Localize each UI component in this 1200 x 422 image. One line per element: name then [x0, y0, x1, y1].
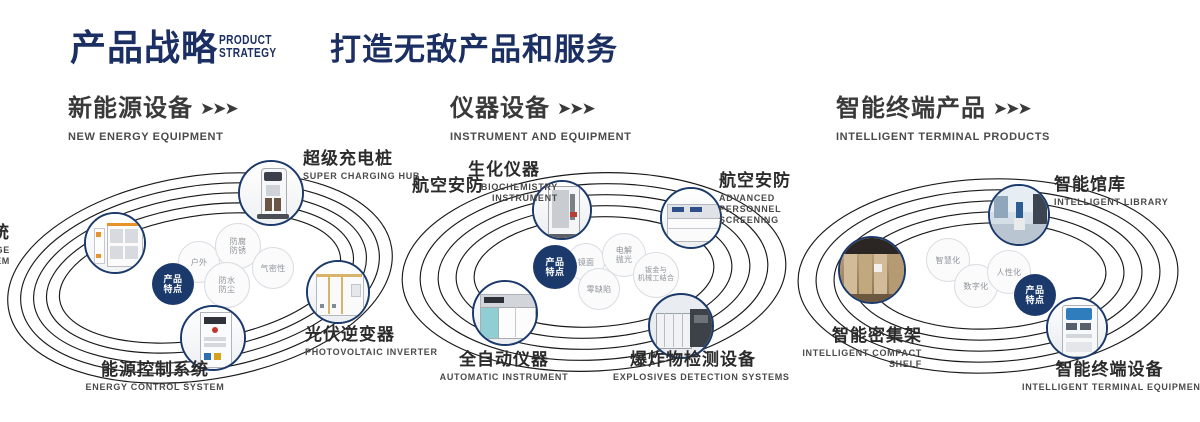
charging-pile-icon	[240, 162, 302, 224]
core-label-3b: 特点	[1025, 295, 1044, 305]
chevron-right-icon-2: ➤➤➤	[557, 99, 594, 118]
page-title-cn: 产品战略	[70, 28, 218, 68]
section-heading-cn-2: 仪器设备➤➤➤	[450, 96, 631, 124]
core-label-1a: 产品	[163, 274, 182, 284]
feature-label-1-2b: 防锈	[230, 246, 247, 255]
section-heading-instrument: 仪器设备➤➤➤ INSTRUMENT AND EQUIPMENT	[450, 96, 631, 143]
label-control-system: 能源控制系统 ENERGY CONTROL SYSTEM	[85, 360, 225, 393]
core-label-1b: 特点	[163, 284, 182, 294]
label-control-system-cn: 能源控制系统	[85, 360, 225, 379]
node-smart-library[interactable]	[988, 184, 1050, 246]
node-compact-shelving[interactable]	[838, 236, 906, 304]
section-heading-cn-3: 智能终端产品➤➤➤	[836, 96, 1050, 124]
cluster-instrument: 镜面 电解 抛光 钣金与 机械工结合 零缺陷 产品 特点	[398, 150, 798, 400]
feature-label-1-1: 户外	[191, 258, 208, 267]
compact-shelving-icon	[840, 238, 904, 302]
page-title-en-line2: STRATEGY	[219, 46, 277, 59]
feature-label-2-1: 镜面	[578, 258, 595, 267]
feature-label-1-2a: 防腐	[230, 237, 247, 246]
feature-label-2-3b: 机械工结合	[638, 275, 675, 283]
feature-label-1-3a: 防水	[219, 276, 236, 285]
product-strategy-infographic: 产品战略 PRODUCT STRATEGY 打造无敌产品和服务 新能源设备➤➤➤…	[0, 0, 1200, 422]
pv-inverter-cabinet-icon	[308, 262, 368, 322]
label-explosives-detection-en: EXPLOSIVES DETECTION SYSTEMS	[613, 372, 773, 383]
feature-label-1-4: 气密性	[261, 264, 286, 273]
section-title-1: 新能源设备	[68, 95, 193, 122]
personnel-screening-machine-icon	[662, 189, 720, 247]
section-title-3: 智能终端产品	[836, 95, 986, 122]
section-heading-intelligent-terminal: 智能终端产品➤➤➤ INTELLIGENT TERMINAL PRODUCTS	[836, 96, 1050, 143]
cluster-new-energy: 户外 防腐 防锈 防水 防尘 气密性 产品 特点	[0, 150, 400, 400]
core-label-3a: 产品	[1025, 285, 1044, 295]
feature-bubble-2-4: 零缺陷	[578, 268, 620, 310]
label-control-system-en: ENERGY CONTROL SYSTEM	[85, 382, 225, 393]
chevron-right-icon-3: ➤➤➤	[993, 99, 1030, 118]
feature-label-3-3: 人性化	[997, 268, 1022, 277]
feature-bubble-2-3: 钣金与 机械工结合	[633, 252, 679, 298]
node-automatic-instrument[interactable]	[472, 280, 538, 346]
feature-label-3-1: 智慧化	[936, 256, 961, 265]
label-smart-library-cn: 智能馆库	[1054, 175, 1174, 194]
section-heading-cn-1: 新能源设备➤➤➤	[68, 96, 237, 124]
section-subtitle-1: NEW ENERGY EQUIPMENT	[68, 131, 237, 143]
feature-label-1-3b: 防尘	[219, 285, 236, 294]
node-energy-storage[interactable]	[84, 212, 146, 274]
label-automatic-instrument-cn: 全自动仪器	[434, 350, 574, 369]
feature-label-2-2a: 电解	[616, 246, 633, 255]
node-pv-inverter[interactable]	[306, 260, 370, 324]
section-heading-new-energy: 新能源设备➤➤➤ NEW ENERGY EQUIPMENT	[68, 96, 237, 143]
label-smart-library: 智能馆库 INTELLIGENT LIBRARY	[1054, 175, 1174, 208]
label-biochemistry: 生化仪器 BIOCHEMISTRY INSTRUMENT	[468, 160, 558, 204]
label-energy-storage-cn: 储能系统	[0, 223, 10, 242]
feature-label-2-2b: 抛光	[616, 255, 633, 264]
label-terminal-equipment: 智能终端设备 INTELLIGENT TERMINAL EQUIPMENT	[1022, 360, 1197, 393]
cluster-intelligent-terminal: 智慧化 数字化 人性化 产品 特点	[792, 150, 1192, 400]
core-label-2b: 特点	[545, 267, 564, 277]
node-self-service-kiosk[interactable]	[1046, 297, 1108, 359]
section-title-2: 仪器设备	[450, 95, 550, 122]
label-compact-shelving: 智能密集架 INTELLIGENT COMPACT SHELF	[787, 326, 922, 370]
section-subtitle-3: INTELLIGENT TERMINAL PRODUCTS	[836, 131, 1050, 143]
core-bubble-1: 产品 特点	[152, 263, 194, 305]
label-explosives-detection: 爆炸物检测设备 EXPLOSIVES DETECTION SYSTEMS	[613, 350, 773, 383]
node-charging-pile[interactable]	[238, 160, 304, 226]
node-personnel-screening[interactable]	[660, 187, 722, 249]
page-subtitle: 打造无敌产品和服务	[330, 32, 618, 68]
label-terminal-equipment-cn: 智能终端设备	[1022, 360, 1197, 379]
label-terminal-equipment-en: INTELLIGENT TERMINAL EQUIPMENT	[1022, 382, 1197, 393]
label-energy-storage-en: ENERGY STORAGE SYSTEM	[0, 245, 10, 267]
label-biochemistry-en: BIOCHEMISTRY INSTRUMENT	[468, 182, 558, 204]
smart-library-room-icon	[990, 186, 1048, 244]
core-bubble-2: 产品 特点	[533, 245, 577, 289]
label-explosives-detection-cn: 爆炸物检测设备	[613, 350, 773, 369]
energy-storage-cabinet-icon	[86, 214, 144, 272]
page-header: 产品战略 PRODUCT STRATEGY 打造无敌产品和服务	[0, 0, 1200, 90]
label-smart-library-en: INTELLIGENT LIBRARY	[1054, 197, 1174, 208]
label-compact-shelving-cn: 智能密集架	[787, 326, 922, 345]
feature-bubble-1-3: 防水 防尘	[204, 262, 250, 308]
page-title-en: PRODUCT STRATEGY	[219, 33, 277, 59]
label-biochemistry-cn: 生化仪器	[468, 160, 558, 179]
section-subtitle-2: INSTRUMENT AND EQUIPMENT	[450, 131, 631, 143]
label-automatic-instrument: 全自动仪器 AUTOMATIC INSTRUMENT	[434, 350, 574, 383]
explosives-detector-icon	[650, 295, 712, 357]
feature-label-2-3a: 钣金与	[645, 267, 667, 275]
feature-label-2-4: 零缺陷	[587, 285, 612, 294]
feature-label-3-2: 数字化	[964, 282, 989, 291]
label-energy-storage: 储能系统 ENERGY STORAGE SYSTEM	[0, 223, 10, 267]
automatic-analyzer-icon	[474, 282, 536, 344]
feature-bubble-1-4: 气密性	[252, 247, 294, 289]
self-service-kiosk-icon	[1048, 299, 1106, 357]
core-label-2a: 产品	[545, 257, 564, 267]
chevron-right-icon-1: ➤➤➤	[200, 99, 237, 118]
label-automatic-instrument-en: AUTOMATIC INSTRUMENT	[434, 372, 574, 383]
label-compact-shelving-en: INTELLIGENT COMPACT SHELF	[787, 348, 922, 370]
